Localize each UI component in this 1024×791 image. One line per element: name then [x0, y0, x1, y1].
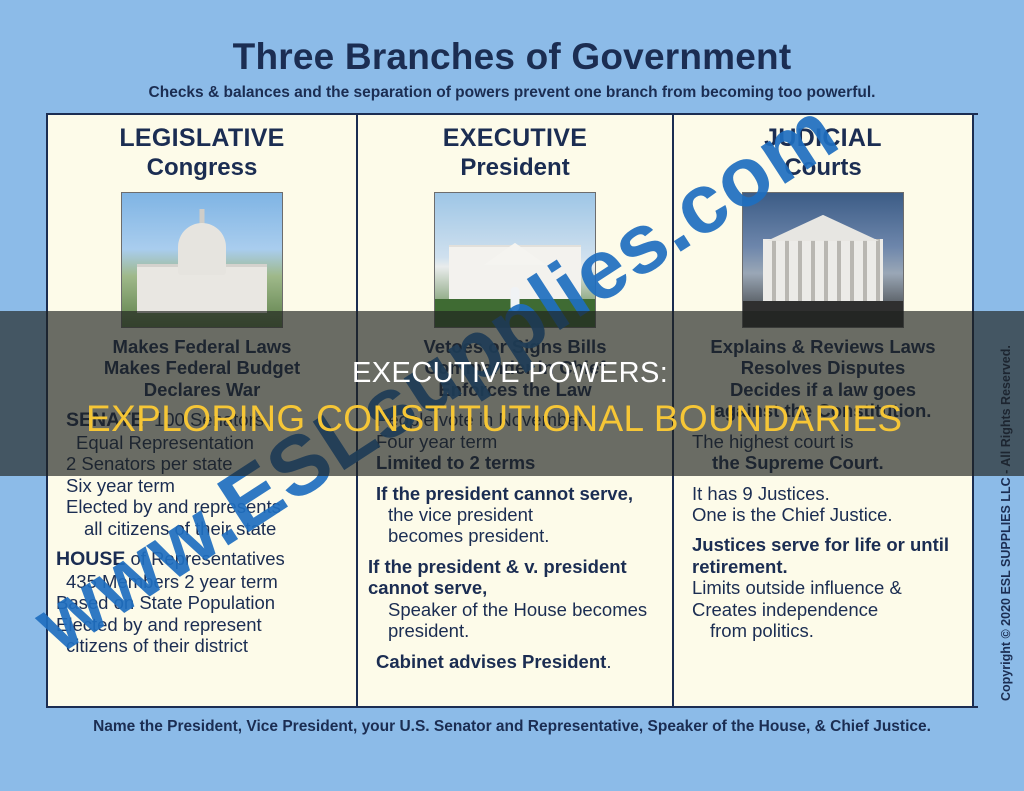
branch-body-judicial: Courts [678, 154, 968, 182]
poster-footer: Name the President, Vice President, your… [0, 718, 1024, 736]
judicial-line-4: One is the Chief Justice. [692, 504, 968, 525]
poster-root: Three Branches of Government Checks & ba… [0, 0, 1024, 791]
succession-line-1: the vice president [376, 504, 668, 525]
senate-line-5: all citizens of their state [66, 518, 352, 539]
house-heading-rest: of Representatives [131, 548, 285, 569]
judicial-line-2: the Supreme Court. [692, 452, 968, 473]
us-capitol-photo [121, 192, 283, 328]
succession-heading-1: If the president cannot serve, [376, 483, 668, 504]
house-line-2: Based on State Population [56, 592, 352, 613]
executive-power-1: Vetoes or Signs Bills [362, 336, 668, 357]
house-line-4: citizens of their district [66, 635, 352, 656]
capitol-dome-spire [200, 209, 205, 227]
succession-line-2: becomes president. [376, 525, 668, 546]
judicial-line-7: from politics. [692, 620, 968, 641]
senate-line-2: 2 Senators per state [66, 453, 352, 474]
judicial-court-block: The highest court is the Supreme Court. … [678, 431, 968, 642]
senate-line-4: Elected by and represents [66, 496, 352, 517]
legislative-senate-block: SENATE 100 Senators Equal Representation… [52, 409, 352, 656]
branch-body-executive: President [362, 154, 668, 182]
cabinet-heading: Cabinet advises President [376, 651, 606, 672]
branch-body-legislative: Congress [52, 154, 352, 182]
judicial-line-5: Limits outside influence & [692, 577, 968, 598]
overlay-title-line1: EXECUTIVE POWERS: [0, 357, 1024, 390]
page-title: Three Branches of Government [0, 36, 1024, 78]
supreme-court-photo [742, 192, 904, 328]
house-line-3: Elected by and represent [56, 614, 352, 635]
judicial-line-3: It has 9 Justices. [692, 483, 968, 504]
white-house-fountain [511, 287, 520, 311]
page-subtitle: Checks & balances and the separation of … [0, 84, 1024, 102]
judicial-line-6: Creates independence [692, 599, 968, 620]
overlay-title-line2: EXPLORING CONSTITUTIONAL BOUNDARIES [0, 398, 1024, 440]
supreme-court-steps [743, 301, 903, 327]
cabinet-heading-rest: . [606, 651, 611, 672]
house-line-1: 435 Members 2 year term [66, 571, 352, 592]
legislative-power-1: Makes Federal Laws [52, 336, 352, 357]
executive-term-line-3: Limited to 2 terms [376, 452, 668, 473]
succession-heading-2-rest: Speaker of the House becomes president. [376, 599, 668, 642]
branch-title-executive: EXECUTIVE [362, 125, 668, 151]
branch-title-judicial: JUDICIAL [678, 125, 968, 151]
judicial-tenure-heading: Justices serve for life or until retirem… [692, 534, 968, 577]
judicial-power-1: Explains & Reviews Laws [678, 336, 968, 357]
house-heading: HOUSE [56, 548, 125, 570]
succession-heading-2: If the president & v. president cannot s… [368, 556, 668, 599]
executive-term-block: People vote in November. Four year term … [362, 409, 668, 672]
white-house-photo [434, 192, 596, 328]
branch-title-legislative: LEGISLATIVE [52, 125, 352, 151]
senate-line-3: Six year term [66, 475, 352, 496]
